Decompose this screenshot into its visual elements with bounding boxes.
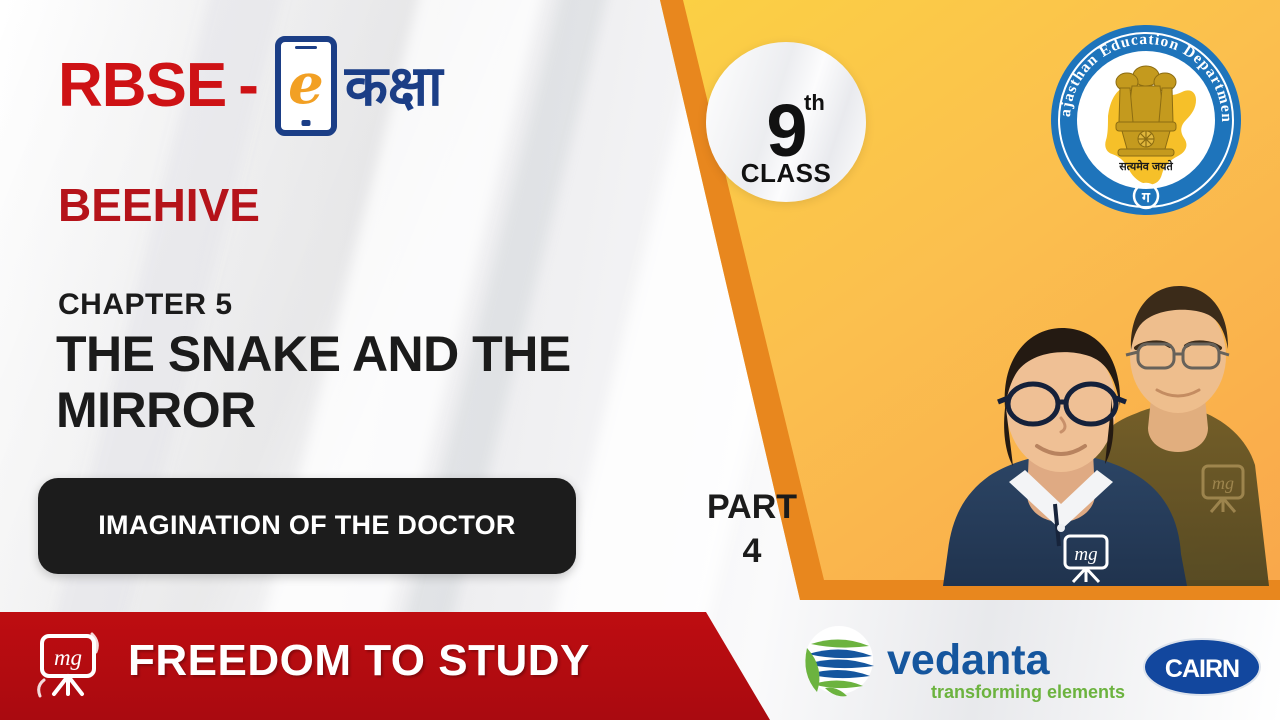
sponsor-cairn-logo: CAIRN [1140, 636, 1264, 698]
e-letter: e [288, 56, 324, 112]
emblem-motto: सत्यमेव जयते [1118, 159, 1173, 173]
cairn-wordmark: CAIRN [1165, 655, 1239, 683]
sponsor-vedanta-logo: vedanta transforming elements [795, 622, 1125, 714]
part-label: PART [672, 486, 832, 530]
class-number: 9 [706, 94, 866, 168]
class-ordinal: th [804, 90, 825, 116]
rajasthan-education-department-emblem: Rajasthan Education Department सत्यमेव [1046, 20, 1246, 220]
svg-text:ग: ग [1141, 189, 1151, 205]
topic-badge-label: IMAGINATION OF THE DOCTOR [80, 509, 533, 543]
vedanta-tagline: transforming elements [931, 682, 1125, 702]
svg-text:mg: mg [1212, 473, 1234, 493]
footer-banner-text: FREEDOM TO STUDY [128, 636, 590, 686]
svg-text:mg: mg [54, 645, 82, 670]
part-indicator: PART 4 [672, 486, 832, 573]
svg-text:mg: mg [1074, 544, 1097, 565]
vedanta-wordmark: vedanta [887, 636, 1051, 684]
topic-badge: IMAGINATION OF THE DOCTOR [38, 478, 576, 574]
vedanta-globe-icon [805, 626, 874, 696]
board-name: RBSE [58, 55, 226, 117]
book-name: BEEHIVE [58, 178, 260, 232]
part-number: 4 [672, 530, 832, 574]
tablet-icon: e [275, 36, 337, 136]
teacher-photo: mg [905, 238, 1280, 586]
brand-logo: RBSE - e कक्षा [58, 36, 443, 136]
thumbnail-canvas: mg [0, 0, 1280, 720]
logo-separator: - [238, 55, 259, 117]
chapter-label: CHAPTER 5 [58, 288, 233, 322]
class-label: CLASS [706, 158, 866, 189]
class-badge: 9 th CLASS [706, 42, 866, 202]
mg-logo-icon: mg [32, 628, 104, 704]
page-title: THE SNAKE AND THE MIRROR [56, 326, 746, 438]
platform-name-hindi: कक्षा [345, 58, 443, 114]
